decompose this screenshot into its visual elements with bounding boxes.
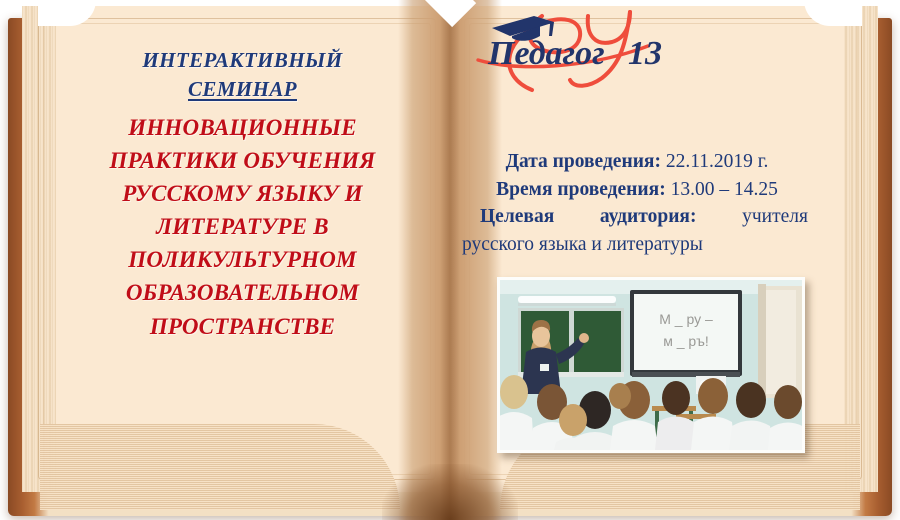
detail-row-time: Время проведения: 13.00 – 14.25 xyxy=(462,176,812,204)
seminar-title-line-2: ПРАКТИКИ ОБУЧЕНИЯ xyxy=(70,144,415,177)
audience-value-continued: русского языка и литературы xyxy=(462,231,812,259)
seminar-kicker: ИНТЕРАКТИВНЫЙ СЕМИНАР xyxy=(70,46,415,104)
seminar-title-line-5: ПОЛИКУЛЬТУРНОМ xyxy=(70,243,415,276)
audience-label: Целевая xyxy=(480,203,554,231)
logo-number: 13 xyxy=(628,35,662,72)
page-fan-left xyxy=(40,424,400,510)
seminar-kicker-line2: СЕМИНАР xyxy=(70,75,415,104)
audience-label-2: аудитория: xyxy=(600,203,697,231)
time-value: 13.00 – 14.25 xyxy=(671,179,778,200)
date-value: 22.11.2019 г. xyxy=(666,151,769,172)
classroom-photo: М _ ру – м _ ръ! xyxy=(497,277,805,453)
time-label: Время проведения: xyxy=(496,179,666,200)
date-label: Дата проведения: xyxy=(506,151,661,172)
slide-root: ИНТЕРАКТИВНЫЙ СЕМИНАР ИННОВАЦИОННЫЕ ПРАК… xyxy=(0,0,900,520)
detail-row-audience: Целевая аудитория: учителя xyxy=(462,203,812,231)
pedagog13-logo: Педагог 13 xyxy=(470,2,730,94)
seminar-title-line-4: ЛИТЕРАТУРЕ В xyxy=(70,210,415,243)
event-details: Дата проведения: 22.11.2019 г. Время про… xyxy=(462,148,812,259)
whiteboard-line-1: М _ ру – xyxy=(659,311,713,327)
book-spine-shadow xyxy=(440,0,460,520)
seminar-kicker-line1: ИНТЕРАКТИВНЫЙ xyxy=(70,46,415,75)
gutter-bottom-shadow xyxy=(382,464,518,520)
page-edge-stack-left xyxy=(22,6,56,492)
seminar-title: ИННОВАЦИОННЫЕ ПРАКТИКИ ОБУЧЕНИЯ РУССКОМУ… xyxy=(70,111,415,343)
seminar-title-line-7: ПРОСТРАНСТВЕ xyxy=(70,310,415,343)
seminar-title-line-3: РУССКОМУ ЯЗЫКУ И xyxy=(70,177,415,210)
whiteboard-line-2: м _ ръ! xyxy=(663,333,709,349)
audience-value: учителя xyxy=(742,203,808,231)
logo-wordmark: Педагог xyxy=(487,35,605,72)
seminar-title-line-1: ИННОВАЦИОННЫЕ xyxy=(70,111,415,144)
seminar-title-line-6: ОБРАЗОВАТЕЛЬНОМ xyxy=(70,276,415,309)
page-edge-stack-right xyxy=(844,6,878,492)
seminar-heading-block: ИНТЕРАКТИВНЫЙ СЕМИНАР ИННОВАЦИОННЫЕ ПРАК… xyxy=(70,46,415,343)
detail-row-date: Дата проведения: 22.11.2019 г. xyxy=(462,148,812,176)
